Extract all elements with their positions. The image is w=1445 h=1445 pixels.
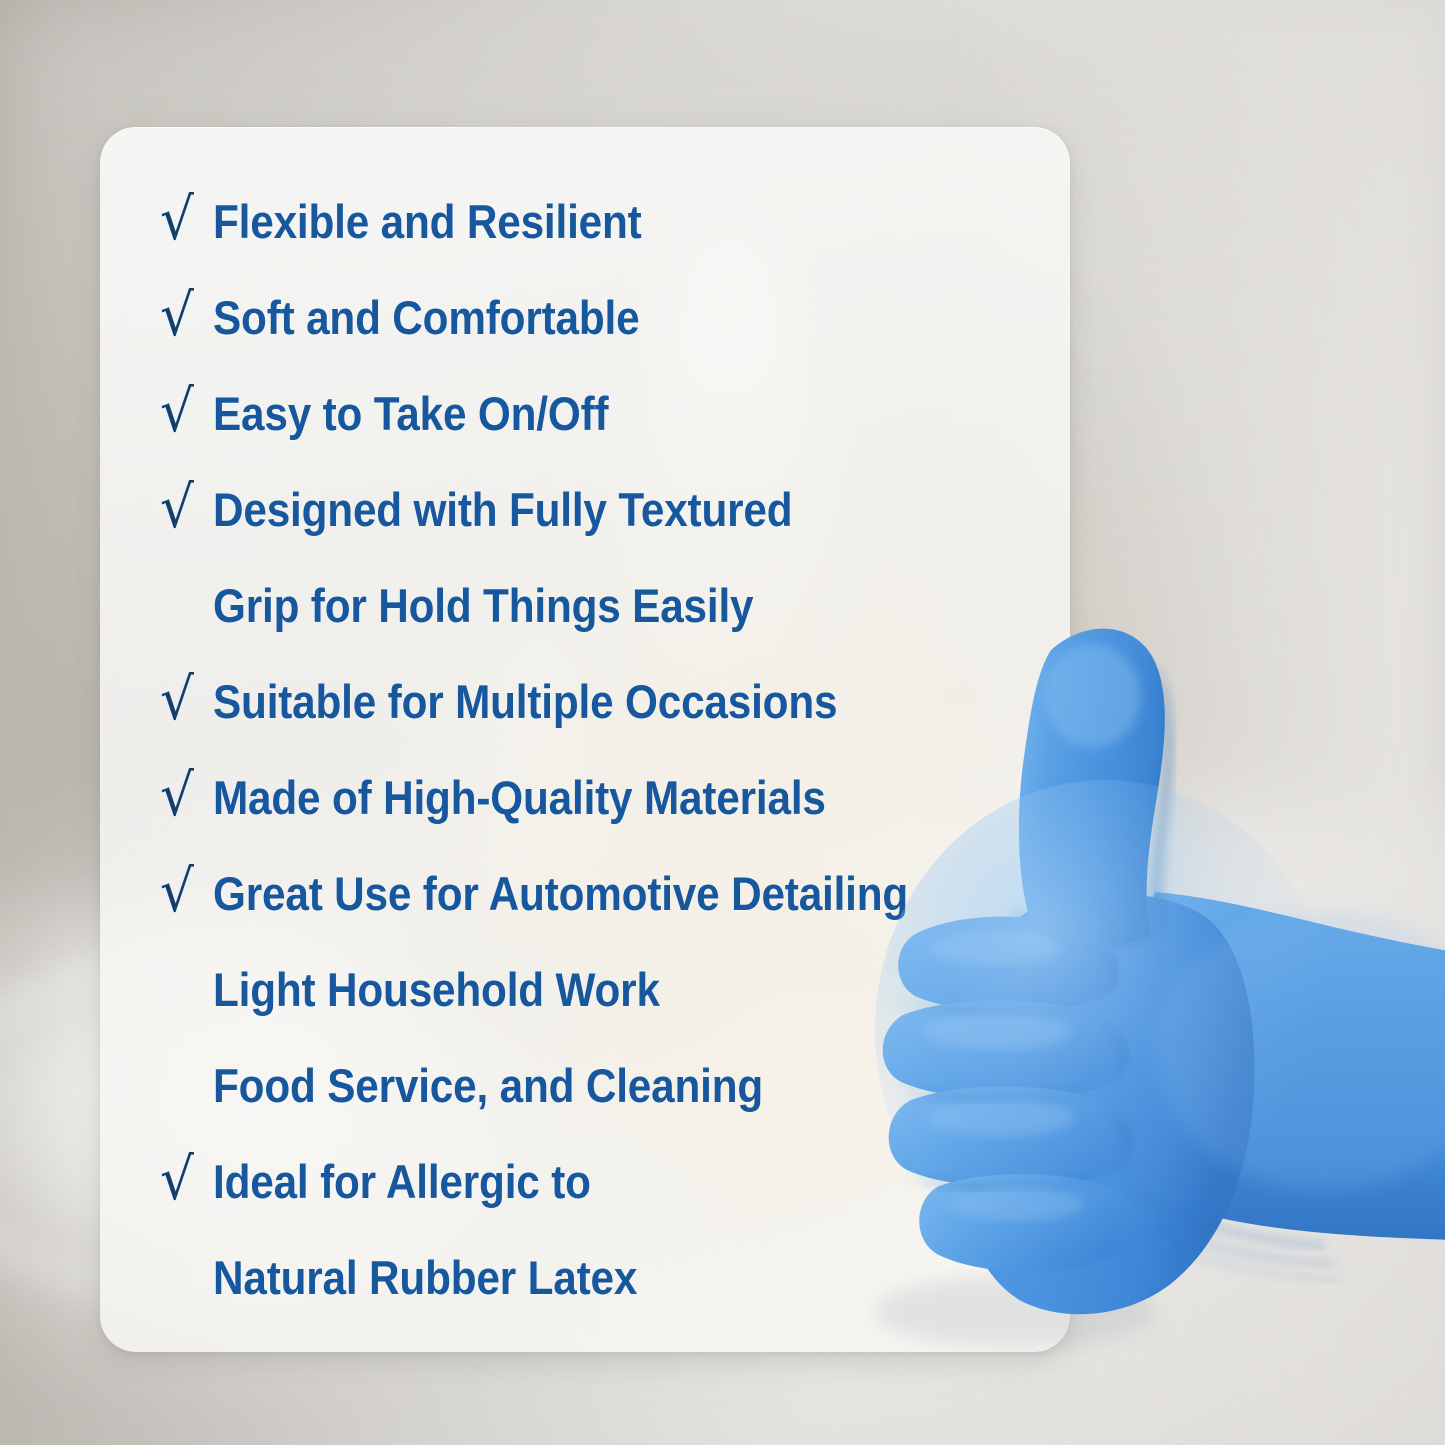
list-item-label: Made of High-Quality Materials <box>213 774 826 821</box>
check-icon: √ <box>143 766 211 824</box>
list-item-label: Great Use for Automotive Detailing <box>213 870 908 917</box>
list-item: √ Soft and Comfortable <box>100 269 1100 365</box>
list-item: √ Ideal for Allergic to <box>100 1133 1100 1229</box>
list-item: √ Easy to Take On/Off <box>100 365 1100 461</box>
list-item-label: Suitable for Multiple Occasions <box>213 678 837 725</box>
list-item-label: Grip for Hold Things Easily <box>213 582 753 629</box>
check-icon: √ <box>143 670 211 728</box>
list-item-label: Food Service, and Cleaning <box>213 1062 763 1109</box>
list-item-continuation: √ Food Service, and Cleaning <box>100 1037 1100 1133</box>
list-item-label: Designed with Fully Textured <box>213 486 792 533</box>
check-icon: √ <box>143 862 211 920</box>
list-item-label: Easy to Take On/Off <box>213 390 608 437</box>
list-item: √ Great Use for Automotive Detailing <box>100 845 1100 941</box>
check-icon: √ <box>143 382 211 440</box>
list-item-label: Light Household Work <box>213 966 660 1013</box>
check-icon: √ <box>143 1150 211 1208</box>
list-item: √ Flexible and Resilient <box>100 173 1100 269</box>
check-icon: √ <box>143 286 211 344</box>
list-item-continuation: √ Grip for Hold Things Easily <box>100 557 1100 653</box>
list-item-continuation: √ Natural Rubber Latex <box>100 1229 1100 1325</box>
list-item: √ Made of High-Quality Materials <box>100 749 1100 845</box>
list-item-continuation: √ Light Household Work <box>100 941 1100 1037</box>
check-icon: √ <box>143 190 211 248</box>
list-item-label: Ideal for Allergic to <box>213 1158 591 1205</box>
list-item-label: Natural Rubber Latex <box>213 1254 637 1301</box>
list-item: √ Designed with Fully Textured <box>100 461 1100 557</box>
list-item-label: Soft and Comfortable <box>213 294 639 341</box>
list-item: √ Suitable for Multiple Occasions <box>100 653 1100 749</box>
feature-list: √ Flexible and Resilient √ Soft and Comf… <box>100 127 1100 1352</box>
list-item-label: Flexible and Resilient <box>213 198 642 245</box>
check-icon: √ <box>143 478 211 536</box>
